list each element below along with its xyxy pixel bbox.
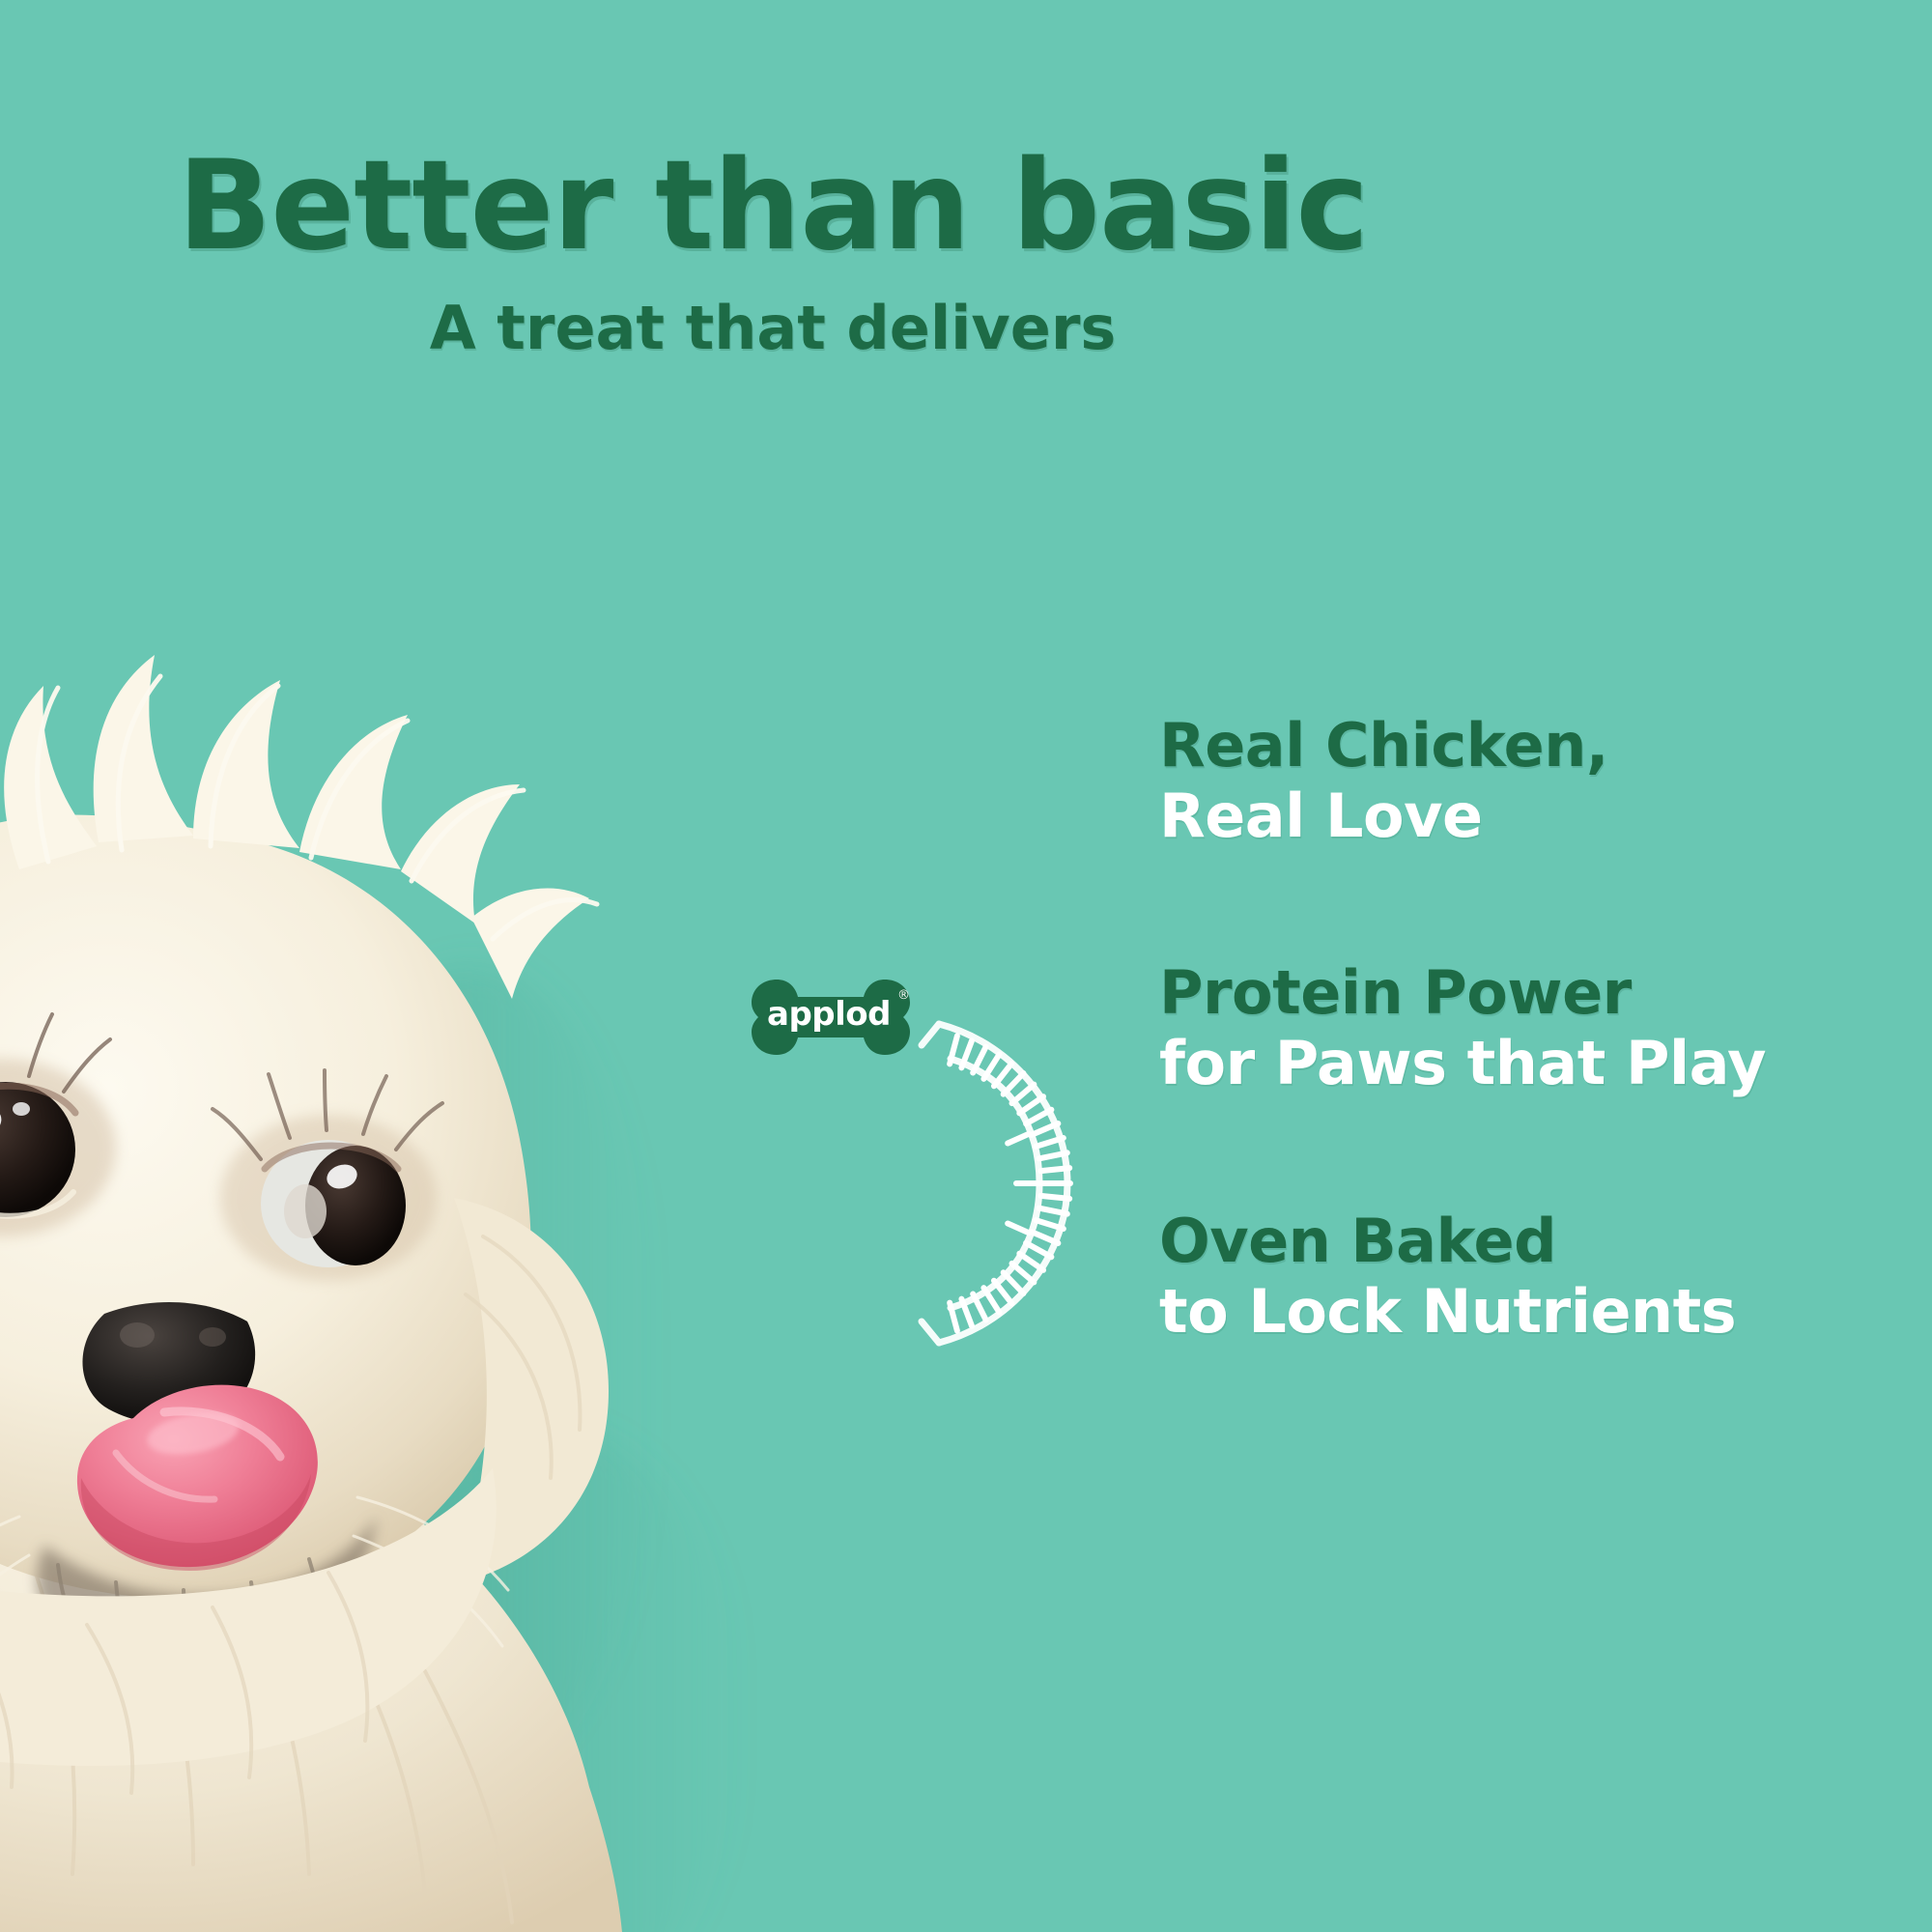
page-title: Better than basic: [0, 145, 1546, 269]
header-block: Better than basic A treat that delivers: [0, 145, 1546, 361]
benefit-subtitle: to Lock Nutrients: [1159, 1276, 1893, 1347]
benefit-item-real-chicken: Real Chicken, Real Love: [1159, 710, 1893, 851]
benefit-title: Protein Power: [1159, 957, 1893, 1028]
poster-canvas: Better than basic A treat that delivers …: [0, 0, 1932, 1932]
benefit-title: Oven Baked: [1159, 1206, 1893, 1276]
benefits-list: Real Chicken, Real Love Protein Power fo…: [1159, 710, 1893, 1347]
benefit-item-oven-baked: Oven Baked to Lock Nutrients: [1159, 1206, 1893, 1347]
benefit-subtitle: for Paws that Play: [1159, 1028, 1893, 1098]
benefit-subtitle: Real Love: [1159, 781, 1893, 851]
page-subtitle: A treat that delivers: [0, 296, 1546, 361]
benefit-item-protein-power: Protein Power for Paws that Play: [1159, 957, 1893, 1098]
ladder-arc-decoration: [889, 985, 1082, 1381]
benefit-title: Real Chicken,: [1159, 710, 1893, 781]
dog-photo: [0, 580, 840, 1932]
